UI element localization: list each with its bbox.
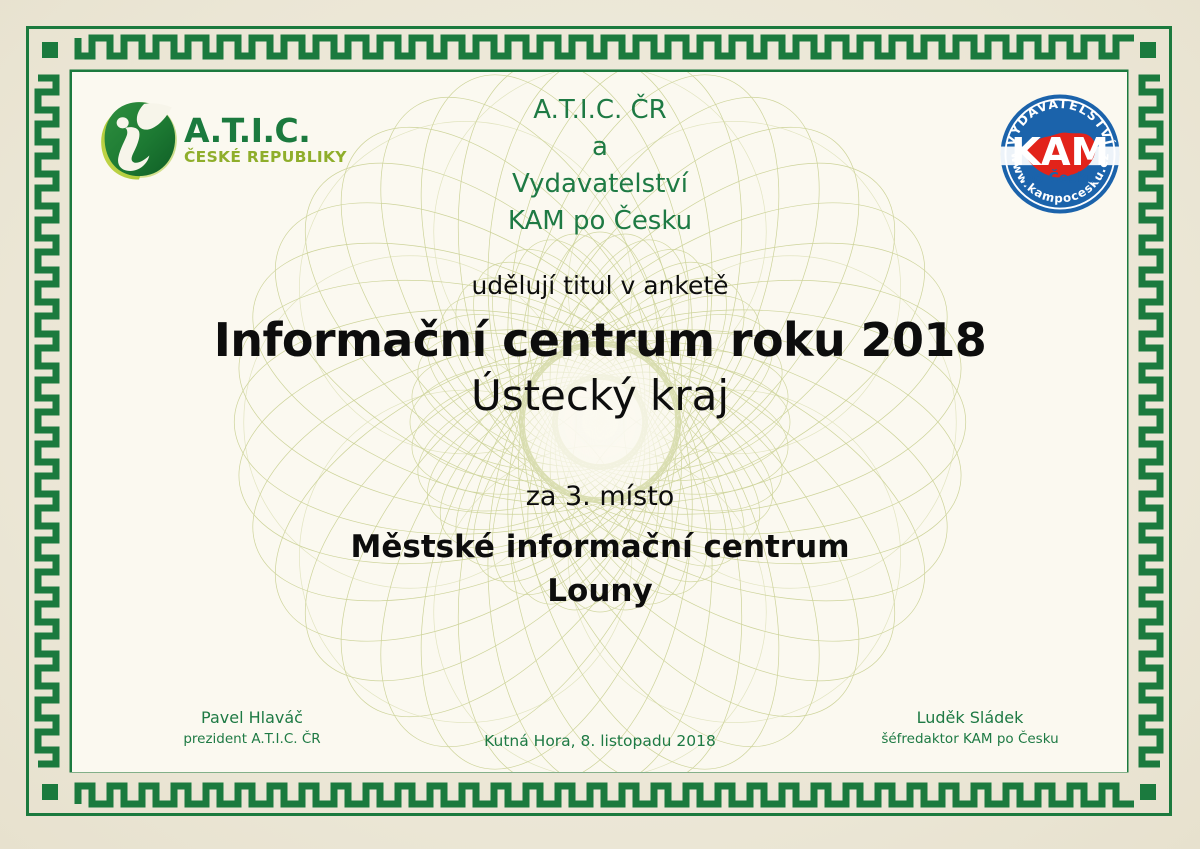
award-region: Ústecký kraj — [0, 374, 1200, 418]
award-winner-name: Městské informační centrum — [0, 528, 1200, 567]
header-line-publisher: Vydavatelství — [0, 166, 1200, 203]
signature-right-name: Luděk Sládek — [836, 708, 1104, 729]
award-placement: za 3. místo — [0, 482, 1200, 512]
awarding-organizations-header: A.T.I.C. ČR a Vydavatelství KAM po Česku — [0, 92, 1200, 240]
header-line-atic: A.T.I.C. ČR — [0, 92, 1200, 129]
place-and-date: Kutná Hora, 8. listopadu 2018 — [0, 732, 1200, 750]
award-title: Informační centrum roku 2018 — [0, 316, 1200, 364]
signature-left-name: Pavel Hlaváč — [128, 708, 376, 729]
award-lead-text: udělují titul v anketě — [0, 272, 1200, 300]
award-winner-block: za 3. místo Městské informační centrum L… — [0, 482, 1200, 611]
certificate-content: A.T.I.C. ČESKÉ REPUBLIKY KAM — [0, 0, 1200, 849]
certificate-document: A.T.I.C. ČESKÉ REPUBLIKY KAM — [0, 0, 1200, 849]
header-line-and: a — [0, 129, 1200, 166]
award-title-block: udělují titul v anketě Informační centru… — [0, 272, 1200, 418]
award-winner-city: Louny — [0, 572, 1200, 611]
header-line-kam: KAM po Česku — [0, 203, 1200, 240]
